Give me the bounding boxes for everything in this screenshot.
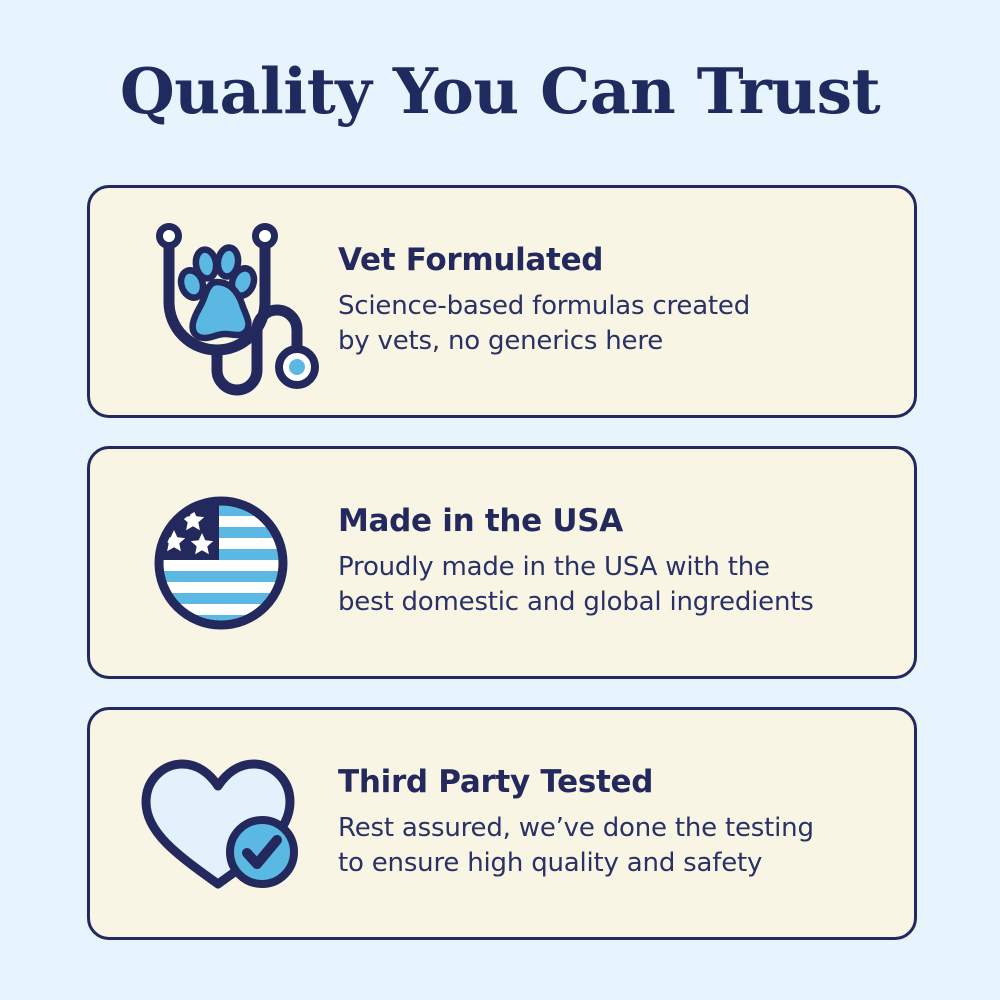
trust-card-made-in-usa: Made in the USA Proudly made in the USA … bbox=[87, 446, 917, 679]
card-body-line: Science-based formulas created bbox=[338, 289, 892, 324]
trust-card-text: Third Party Tested Rest assured, we’ve d… bbox=[330, 765, 892, 881]
quality-trust-infographic: Quality You Can Trust bbox=[0, 0, 1000, 1000]
usa-flag-circle-icon bbox=[112, 468, 330, 658]
card-body-line: best domestic and global ingredients bbox=[338, 585, 892, 620]
trust-card-third-party-tested: Third Party Tested Rest assured, we’ve d… bbox=[87, 707, 917, 940]
card-body-line: Proudly made in the USA with the bbox=[338, 550, 892, 585]
card-body: Science-based formulas created by vets, … bbox=[338, 289, 892, 360]
card-body-line: by vets, no generics here bbox=[338, 324, 892, 359]
trust-card-text: Made in the USA Proudly made in the USA … bbox=[330, 504, 892, 620]
card-heading: Vet Formulated bbox=[338, 243, 892, 279]
card-body: Rest assured, we’ve done the testing to … bbox=[338, 811, 892, 882]
trust-card-vet-formulated: Vet Formulated Science-based formulas cr… bbox=[87, 185, 917, 418]
paw-print-glyph bbox=[177, 246, 257, 338]
heart-check-icon bbox=[112, 729, 330, 919]
stethoscope-paw-icon bbox=[112, 207, 330, 397]
card-heading: Third Party Tested bbox=[338, 765, 892, 801]
trust-card-list: Vet Formulated Science-based formulas cr… bbox=[87, 185, 917, 940]
trust-card-text: Vet Formulated Science-based formulas cr… bbox=[330, 243, 892, 359]
card-body-line: Rest assured, we’ve done the testing bbox=[338, 811, 892, 846]
card-body-line: to ensure high quality and safety bbox=[338, 846, 892, 881]
card-body: Proudly made in the USA with the best do… bbox=[338, 550, 892, 621]
card-heading: Made in the USA bbox=[338, 504, 892, 540]
page-title: Quality You Can Trust bbox=[0, 58, 1000, 124]
